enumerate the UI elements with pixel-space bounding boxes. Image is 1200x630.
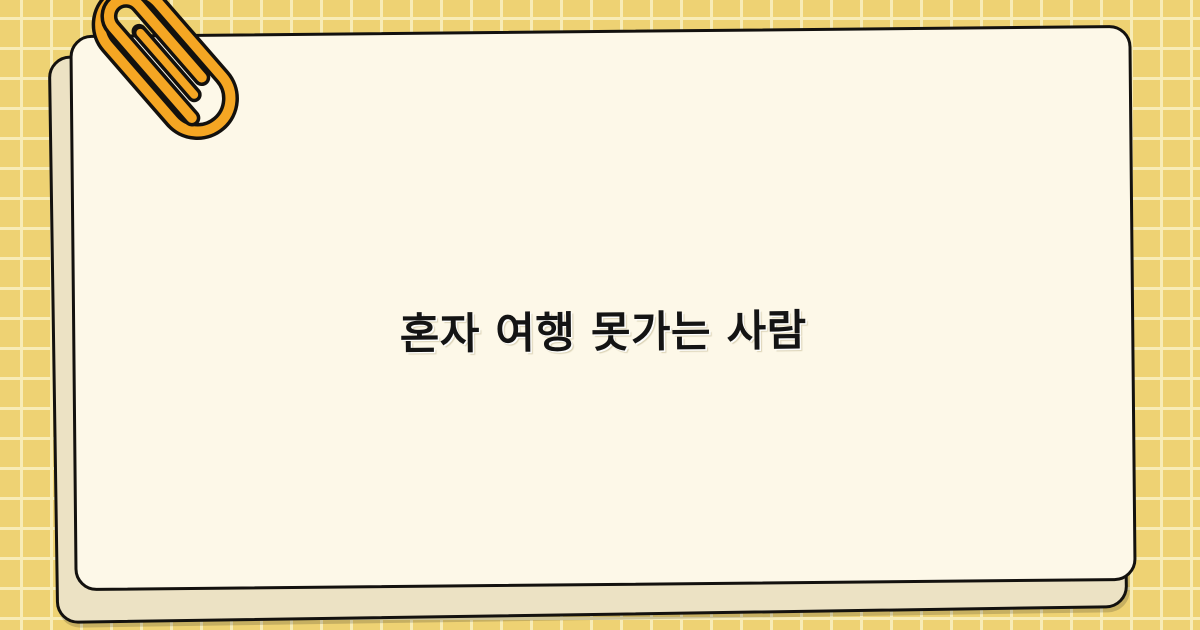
paperclip-glyph bbox=[73, 0, 255, 128]
paperclip-icon bbox=[73, 0, 255, 128]
memo-card-canvas: 혼자 여행 못가는 사람 bbox=[0, 0, 1200, 630]
card-stack: 혼자 여행 못가는 사람 bbox=[0, 0, 1200, 630]
